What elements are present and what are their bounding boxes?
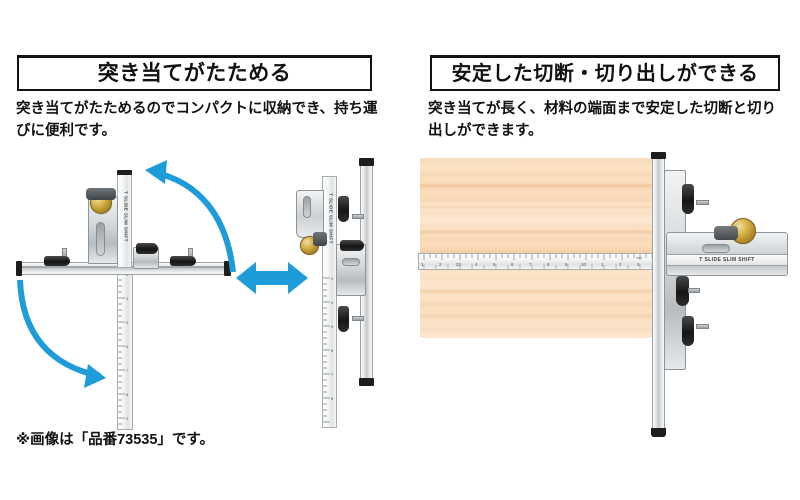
panel-left: 突き当てがたためる 突き当てがたためるのでコンパクトに収納でき、持ち運びに便利で… [0,0,400,500]
pivot-head-slot [96,222,105,256]
folded-stop-plate-slot [303,196,311,218]
wood-board [420,158,652,338]
folded-rail-bottom-cap [359,378,374,386]
folded-carriage-slot [342,258,360,266]
wood-grain-line [420,184,652,187]
panel-left-heading-text: 突き当てがたためる [98,63,292,84]
folded-carriage-body [336,244,366,296]
folded-lower-lever-stem [352,316,364,321]
svg-text:9: 9 [565,262,568,267]
wood-grain-line [420,290,652,293]
folded-blade-ticks: 345 678 [322,272,337,428]
svg-text:7: 7 [529,262,532,267]
folded-pivot-collar [313,232,327,246]
footnote-text: ※画像は「品番73535」です。 [16,428,214,449]
svg-text:5: 5 [493,262,496,267]
pivot-collar [86,188,116,200]
svg-text:7: 7 [331,372,334,377]
svg-text:4: 4 [475,262,478,267]
assembly-carriage-slot [702,244,730,253]
horizontal-ruler-ticks: 1220 456 789 1012 34 mm [418,253,670,270]
svg-text:4: 4 [331,300,334,305]
svg-text:5: 5 [331,324,334,329]
svg-text:3: 3 [637,262,640,267]
folded-upper-lever[interactable] [338,196,349,222]
rail-left-endcap [16,261,22,276]
brand-label-folded-figure: T SLIDE SLIM SHIFT [329,189,334,249]
assembly-lower-lever-stem [696,324,709,329]
wood-grain-line [420,206,652,208]
assembly-middle-lever-stem [688,288,700,293]
panel-right-heading-text: 安定した切断・切り出しができる [451,64,758,84]
right-rail-top-cap [651,152,666,159]
brand-label-right-figure: T SLIDE SLIM SHIFT [699,257,755,263]
svg-text:8: 8 [331,396,334,401]
panel-left-body-text: 突き当てがたためるのでコンパクトに収納でき、持ち運びに便利です。 [16,98,380,143]
curved-arrow-up-left [115,160,240,280]
folded-lower-lever[interactable] [338,306,349,332]
svg-text:6: 6 [511,262,514,267]
svg-text:8: 8 [547,262,550,267]
svg-text:2: 2 [439,262,442,267]
ruler-unit-label: mm [636,256,642,260]
svg-text:1: 1 [421,262,424,267]
svg-text:2: 2 [619,262,622,267]
assembly-lower-lever[interactable] [682,316,694,346]
svg-text:3: 3 [331,276,334,281]
curved-arrow-down-right [14,276,130,388]
folded-middle-lever[interactable] [340,240,364,251]
double-headed-arrow [236,258,308,298]
svg-text:9: 9 [126,416,129,421]
svg-text:1: 1 [601,262,604,267]
svg-text:10: 10 [581,262,586,267]
left-clamp-lever[interactable] [44,256,70,266]
wood-grain-line [420,314,652,316]
svg-text:20: 20 [456,262,461,267]
right-rail-bottom-cap [651,428,666,437]
folded-upper-lever-stem [352,214,364,219]
assembly-upper-lever-stem [696,200,709,205]
panel-right-heading-box: 安定した切断・切り出しができる [430,55,780,91]
wood-grain-line [420,230,652,234]
panel-right: 安定した切断・切り出しができる 突き当てが長く、材料の端面まで安定した切断と切り… [400,0,800,500]
folded-rail-top-cap [359,158,374,166]
assembly-knob-collar [714,226,738,240]
assembly-upper-lever[interactable] [682,184,694,214]
svg-text:6: 6 [331,348,334,353]
svg-text:8: 8 [126,392,129,397]
panel-right-body-text: 突き当てが長く、材料の端面まで安定した切断と切り出しができます。 [428,98,790,143]
panel-left-heading-box: 突き当てがたためる [17,55,372,91]
brand-plate-right: T SLIDE SLIM SHIFT [666,254,788,266]
